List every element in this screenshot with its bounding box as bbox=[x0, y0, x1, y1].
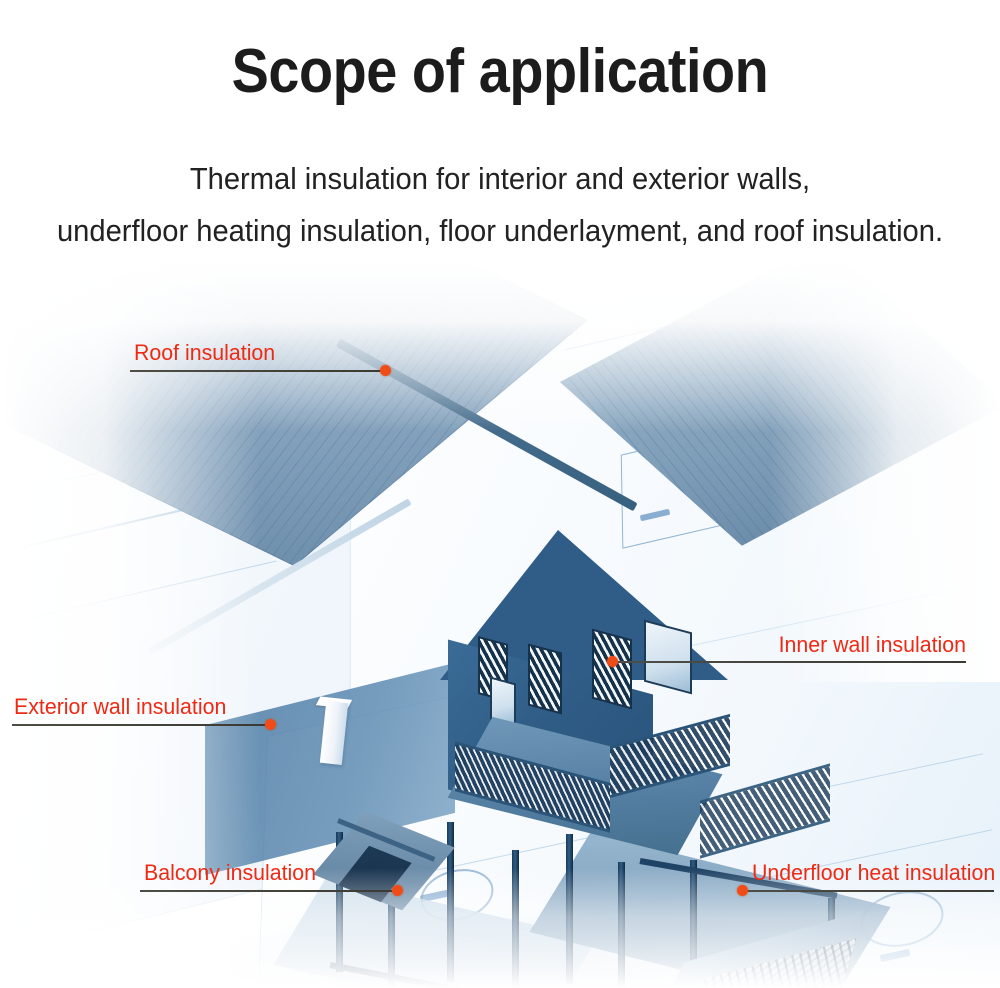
callout-label-balcony-insulation: Balcony insulation bbox=[144, 860, 316, 886]
callout-leader-line bbox=[744, 890, 994, 892]
house-louver-window bbox=[592, 629, 632, 710]
callout-leader-line bbox=[12, 724, 274, 726]
house-column bbox=[618, 862, 625, 988]
callout-label-underfloor-heat-insulation: Underfloor heat insulation bbox=[752, 860, 995, 886]
callout-leader-line bbox=[140, 890, 402, 892]
scope-of-application-banner: Scope of application Thermal insulation … bbox=[0, 0, 1000, 988]
callout-label-roof-insulation: Roof insulation bbox=[134, 340, 275, 366]
callout-label-exterior-wall-insulation: Exterior wall insulation bbox=[14, 694, 226, 720]
subtitle-line-2: underfloor heating insulation, floor und… bbox=[30, 212, 970, 250]
callout-dot-icon bbox=[380, 365, 391, 376]
callout-dot-icon bbox=[265, 719, 276, 730]
callout-label-inner-wall-insulation: Inner wall insulation bbox=[779, 632, 966, 658]
subtitle-line-1: Thermal insulation for interior and exte… bbox=[30, 160, 970, 198]
page-title: Scope of application bbox=[50, 36, 950, 108]
house-column bbox=[512, 850, 519, 988]
callout-leader-line bbox=[130, 370, 385, 372]
house-roof-main-slope bbox=[0, 262, 588, 566]
house-window bbox=[644, 620, 692, 695]
callout-dot-icon bbox=[737, 885, 748, 896]
callout-dot-icon bbox=[392, 885, 403, 896]
callout-leader-line bbox=[616, 661, 966, 663]
house-column bbox=[566, 834, 573, 984]
header: Scope of application Thermal insulation … bbox=[0, 0, 1000, 275]
house-louver-window bbox=[528, 643, 562, 714]
callout-dot-icon bbox=[607, 656, 618, 667]
